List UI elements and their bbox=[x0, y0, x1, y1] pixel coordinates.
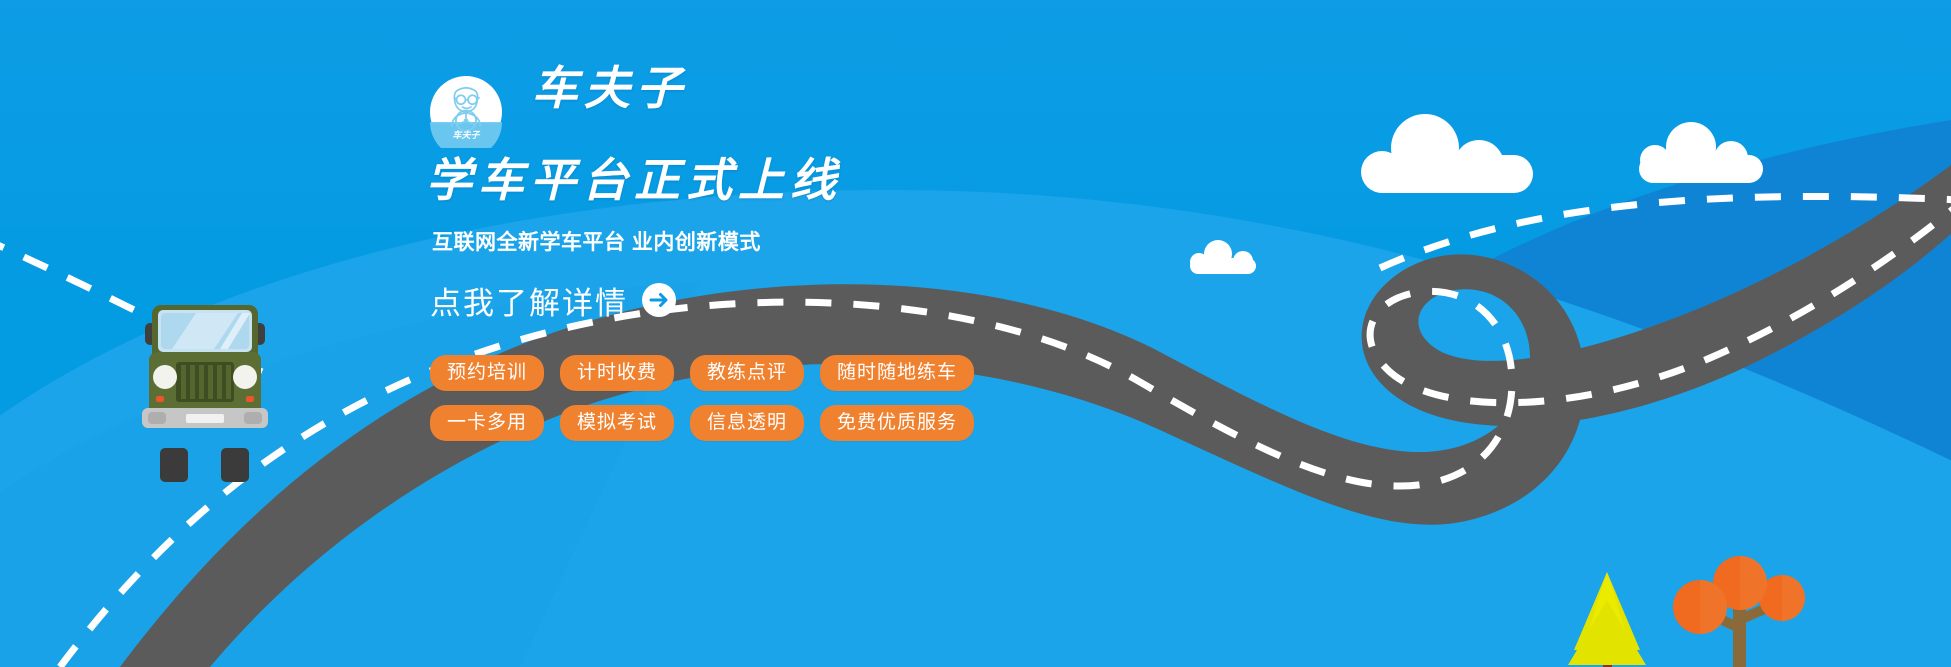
title-line-1: 车夫子 bbox=[532, 64, 688, 114]
feature-tag[interactable]: 信息透明 bbox=[690, 405, 804, 441]
feature-tag[interactable]: 教练点评 bbox=[690, 355, 804, 391]
promo-banner: 车夫子 车夫子 学车平台正式上线 互联网全新学车平台 业内创新模式 点我了解详情… bbox=[0, 0, 1951, 667]
green-jeep-icon bbox=[142, 305, 268, 482]
cta-learn-more[interactable]: 点我了解详情 bbox=[430, 278, 676, 323]
brand-row: 车夫子 车夫子 bbox=[430, 62, 1150, 148]
logo-caption: 车夫子 bbox=[452, 130, 480, 141]
banner-content: 车夫子 车夫子 学车平台正式上线 互联网全新学车平台 业内创新模式 点我了解详情… bbox=[430, 62, 1150, 455]
driver-badge-icon: 车夫子 bbox=[430, 76, 502, 148]
feature-tag[interactable]: 预约培训 bbox=[430, 355, 544, 391]
title-block: 车夫子 bbox=[528, 62, 688, 114]
feature-tag[interactable]: 免费优质服务 bbox=[820, 405, 974, 441]
feature-tag-row-1: 预约培训 计时收费 教练点评 随时随地练车 bbox=[430, 355, 950, 391]
feature-tag[interactable]: 随时随地练车 bbox=[820, 355, 974, 391]
subtitle: 互联网全新学车平台 业内创新模式 bbox=[432, 226, 1150, 256]
feature-tag-row-2: 一卡多用 模拟考试 信息透明 免费优质服务 bbox=[430, 405, 950, 441]
cta-label: 点我了解详情 bbox=[430, 278, 628, 323]
feature-tag[interactable]: 计时收费 bbox=[560, 355, 674, 391]
arrow-right-circle-icon[interactable] bbox=[642, 283, 676, 317]
title-line-2: 学车平台正式上线 bbox=[426, 156, 1150, 206]
feature-tags: 预约培训 计时收费 教练点评 随时随地练车 一卡多用 模拟考试 信息透明 免费优… bbox=[430, 355, 950, 441]
feature-tag[interactable]: 一卡多用 bbox=[430, 405, 544, 441]
feature-tag[interactable]: 模拟考试 bbox=[560, 405, 674, 441]
